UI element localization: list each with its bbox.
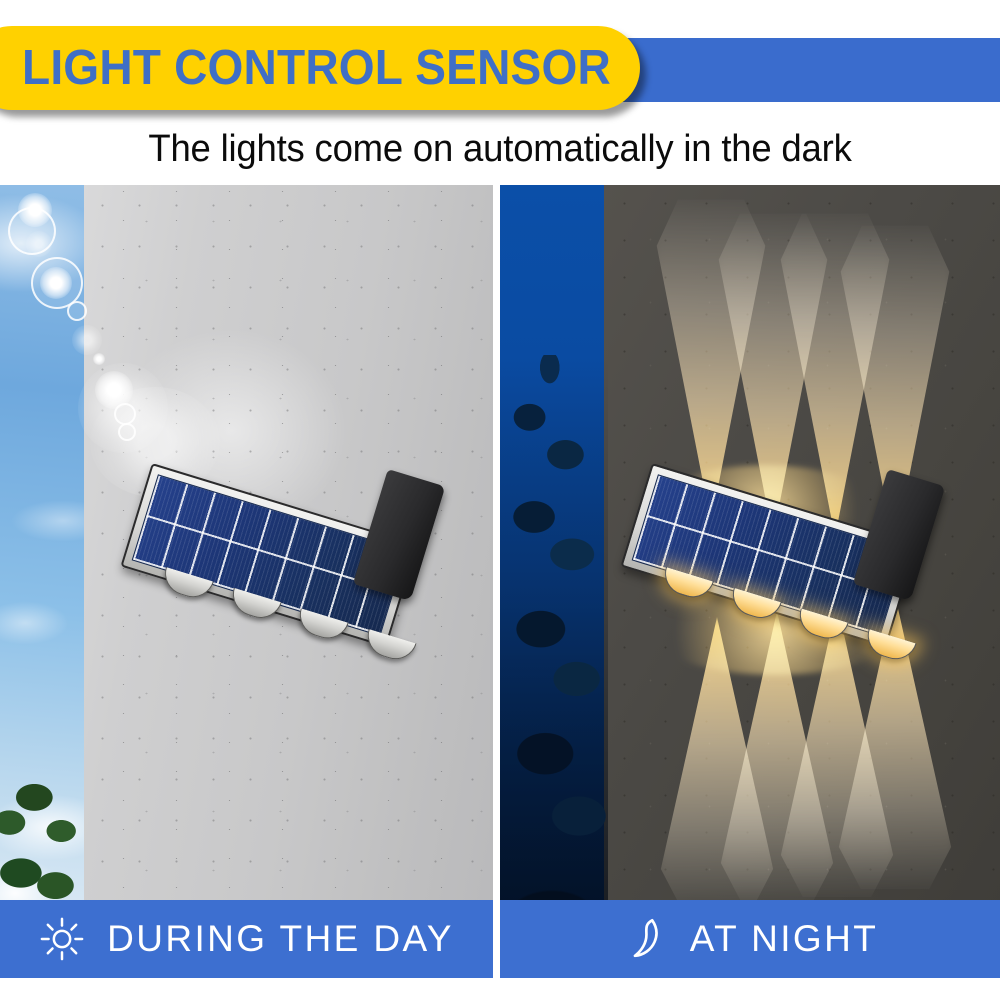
panel-night xyxy=(500,185,1000,978)
sun-icon xyxy=(39,916,85,962)
label-bar-night: AT NIGHT xyxy=(500,900,1000,978)
solar-wall-lamp-night xyxy=(652,463,952,638)
page-title: LIGHT CONTROL SENSOR xyxy=(22,40,611,96)
led-lens xyxy=(362,629,416,665)
header-subtitle: The lights come on automatically in the … xyxy=(20,120,980,178)
product-infographic: LIGHT CONTROL SENSOR The lights come on … xyxy=(0,0,1000,1000)
lamp-housing xyxy=(853,469,945,601)
label-day: DURING THE DAY xyxy=(107,918,454,960)
solar-wall-lamp-day xyxy=(152,463,452,638)
header-title-pill: LIGHT CONTROL SENSOR xyxy=(0,26,640,110)
led-lens xyxy=(862,629,916,665)
comparison-stage xyxy=(0,185,1000,978)
header: LIGHT CONTROL SENSOR xyxy=(0,0,1000,128)
label-bar-day: DURING THE DAY xyxy=(0,900,493,978)
panel-day xyxy=(0,185,493,978)
label-night: AT NIGHT xyxy=(690,918,878,960)
moon-icon xyxy=(622,916,668,962)
night-tree-silhouette xyxy=(500,355,608,978)
lamp-housing xyxy=(353,469,445,601)
